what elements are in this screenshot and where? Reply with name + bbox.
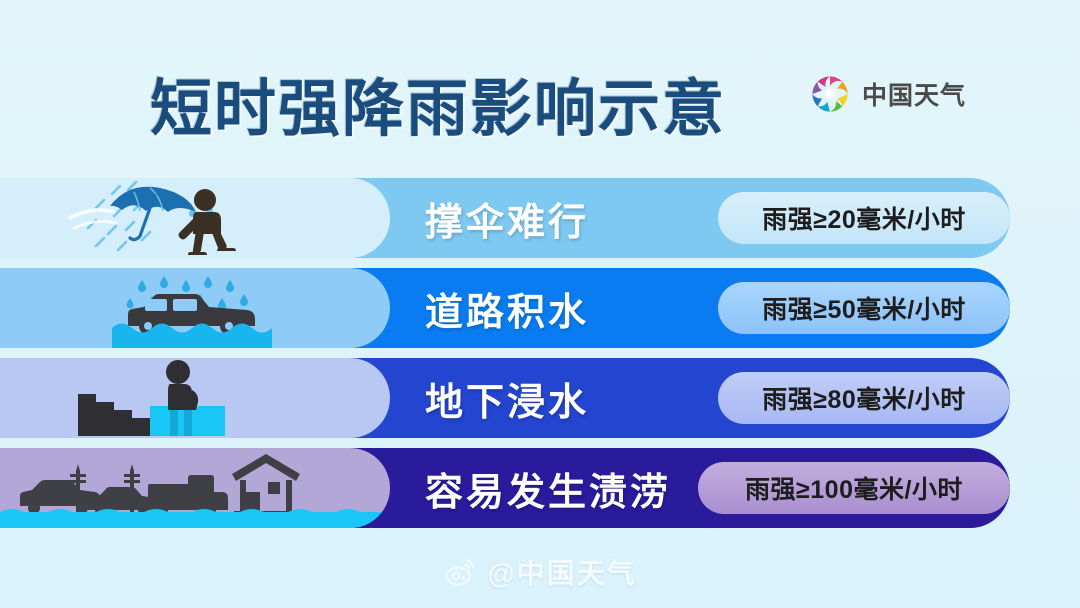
- impact-label: 地下浸水: [425, 358, 589, 438]
- row-icon-panel: [0, 178, 390, 258]
- footer-watermark: @中国天气: [0, 552, 1080, 592]
- rain-intensity-badge: 雨强≥100毫米/小时: [698, 462, 1010, 514]
- watermark-text: @中国天气: [487, 552, 636, 592]
- brand-logo-group: 中国天气: [808, 72, 966, 116]
- brand-name: 中国天气: [862, 76, 966, 112]
- impact-row-waterlogging: 容易发生渍涝 雨强≥100毫米/小时: [0, 448, 1010, 528]
- impact-row-road-flood: 道路积水 雨强≥50毫米/小时: [0, 268, 1010, 348]
- car-shape: [20, 480, 100, 506]
- impact-row-umbrella: 撑伞难行 雨强≥20毫米/小时: [0, 178, 1010, 258]
- header: 短时强降雨影响示意 中国天气: [0, 0, 1080, 170]
- rain-intensity-badge: 雨强≥50毫米/小时: [718, 282, 1010, 334]
- impact-label: 道路积水: [425, 268, 589, 348]
- row-icon-panel: [0, 358, 390, 438]
- row-icon-panel: [0, 268, 390, 348]
- weibo-logo-icon: [443, 555, 477, 589]
- rain-intensity-badge: 雨强≥20毫米/小时: [718, 192, 1010, 244]
- impact-label: 容易发生渍涝: [425, 448, 671, 528]
- impact-label: 撑伞难行: [425, 178, 589, 258]
- row-icon-panel: [0, 448, 390, 528]
- wading-person-shape: [166, 360, 198, 410]
- impact-row-underground-flood: 地下浸水 雨强≥80毫米/小时: [0, 358, 1010, 438]
- car-in-flooded-road-icon: [0, 268, 390, 348]
- person-wading-underpass-stairs-icon: [0, 358, 390, 438]
- cmaweather-swirl-logo-icon: [808, 72, 852, 116]
- rain-intensity-badge: 雨强≥80毫米/小时: [718, 372, 1010, 424]
- walking-person-shape: [179, 189, 237, 255]
- person-with-umbrella-in-rain-icon: [0, 178, 390, 258]
- page-title: 短时强降雨影响示意: [150, 58, 726, 148]
- flooded-town-cars-truck-house-icon: [0, 448, 390, 528]
- house-shape: [232, 454, 300, 516]
- stairs-shape: [78, 394, 150, 436]
- impact-rows-list: 撑伞难行 雨强≥20毫米/小时: [0, 178, 1080, 538]
